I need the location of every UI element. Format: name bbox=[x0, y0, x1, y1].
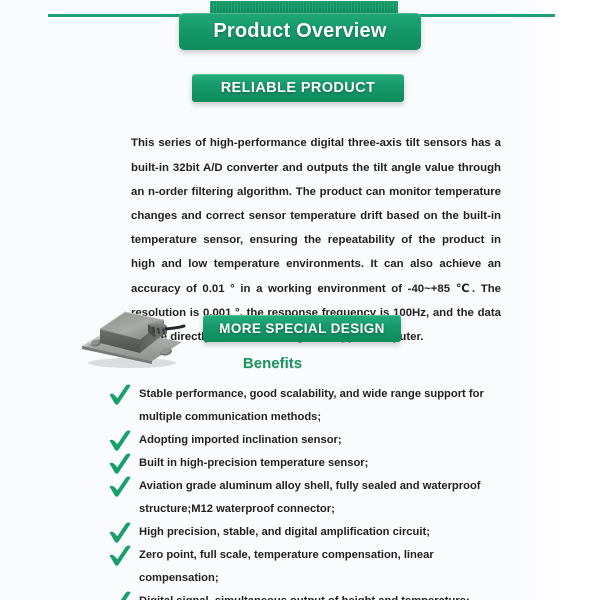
benefit-text: Zero point, full scale, temperature comp… bbox=[139, 544, 507, 590]
check-icon bbox=[107, 521, 133, 544]
check-icon bbox=[107, 429, 133, 452]
benefit-text: Adopting imported inclination sensor; bbox=[139, 429, 507, 452]
benefit-text: High precision, stable, and digital ampl… bbox=[139, 521, 507, 544]
benefits-list: Stable performance, good scalability, an… bbox=[107, 383, 507, 600]
benefit-text: Aviation grade aluminum alloy shell, ful… bbox=[139, 475, 507, 521]
section-banner-more-special-design: MORE SPECIAL DESIGN bbox=[203, 315, 401, 342]
page-header: Product Overview bbox=[0, 0, 600, 62]
page-title-banner: Product Overview bbox=[179, 13, 421, 50]
benefit-text: Digital signal, simultaneous output of h… bbox=[139, 590, 507, 600]
check-icon bbox=[107, 590, 133, 600]
page-background-fade bbox=[508, 0, 568, 600]
section-banner-more-special-design-label: MORE SPECIAL DESIGN bbox=[219, 321, 385, 336]
benefit-item: Digital signal, simultaneous output of h… bbox=[107, 590, 507, 600]
check-icon bbox=[107, 383, 133, 406]
benefit-item: High precision, stable, and digital ampl… bbox=[107, 521, 507, 544]
page-title: Product Overview bbox=[213, 20, 386, 43]
benefit-item: Zero point, full scale, temperature comp… bbox=[107, 544, 507, 590]
check-icon bbox=[107, 452, 133, 475]
benefit-item: Aviation grade aluminum alloy shell, ful… bbox=[107, 475, 507, 521]
section-banner-reliable-product: RELIABLE PRODUCT bbox=[192, 74, 404, 102]
check-icon bbox=[107, 475, 133, 498]
product-overview-page: Product Overview RELIABLE PRODUCT This s… bbox=[0, 0, 600, 600]
benefit-text: Stable performance, good scalability, an… bbox=[139, 383, 507, 429]
benefit-text: Built in high-precision temperature sens… bbox=[139, 452, 507, 475]
benefit-item: Built in high-precision temperature sens… bbox=[107, 452, 507, 475]
section-banner-reliable-product-label: RELIABLE PRODUCT bbox=[221, 80, 376, 96]
benefit-item: Stable performance, good scalability, an… bbox=[107, 383, 507, 429]
benefit-item: Adopting imported inclination sensor; bbox=[107, 429, 507, 452]
benefits-heading: Benefits bbox=[0, 355, 545, 372]
check-icon bbox=[107, 544, 133, 567]
